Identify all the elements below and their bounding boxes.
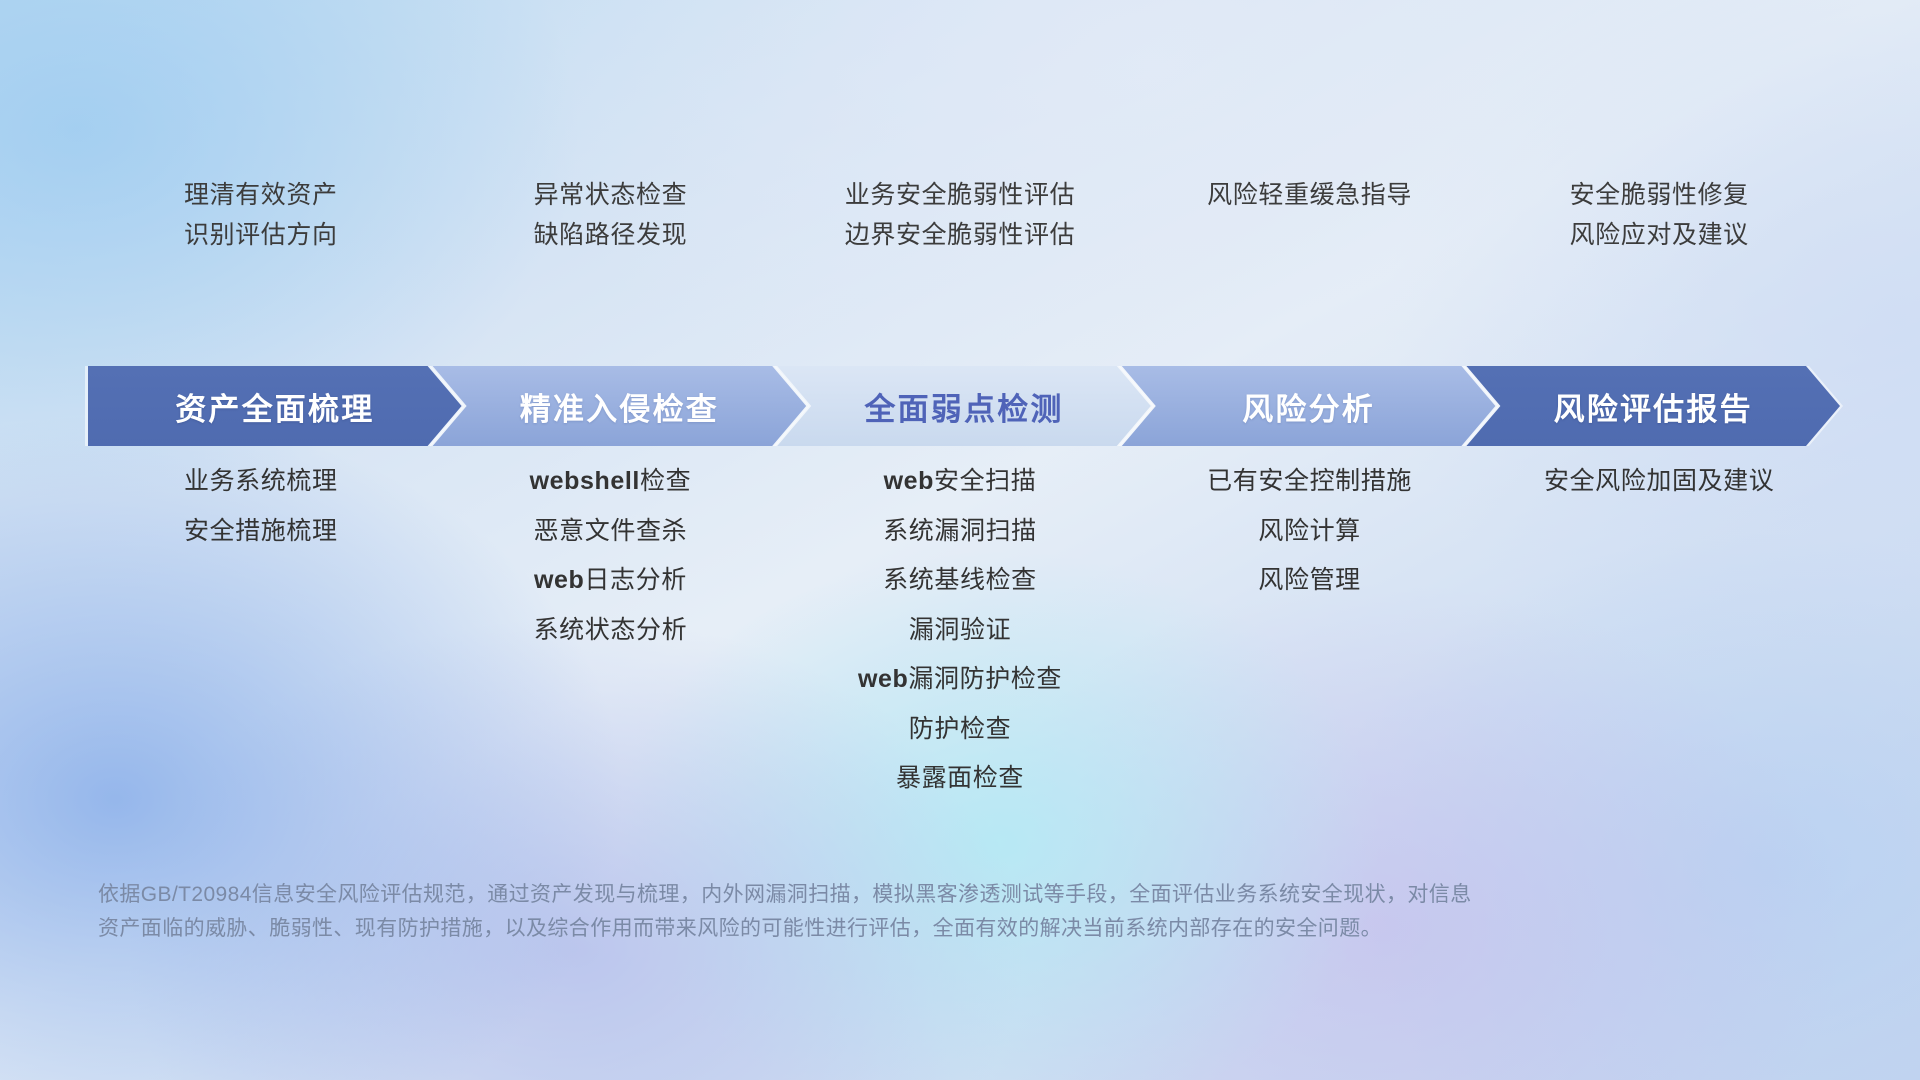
chevron-asset-inventory[interactable] [88, 366, 462, 446]
top-note: 理清有效资产 [184, 182, 338, 210]
bottom-item: web日志分析 [534, 567, 687, 595]
bottom-item: 已有安全控制措施 [1207, 468, 1412, 496]
chevron-intrusion-check[interactable] [433, 366, 807, 446]
bottom-item: 风险计算 [1258, 518, 1360, 546]
bottom-item: 安全措施梳理 [184, 518, 338, 546]
top-notes-row: 理清有效资产识别评估方向异常状态检查缺陷路径发现业务安全脆弱性评估边界安全脆弱性… [86, 178, 1834, 286]
slide-canvas: 理清有效资产识别评估方向异常状态检查缺陷路径发现业务安全脆弱性评估边界安全脆弱性… [0, 0, 1920, 1080]
top-note: 缺陷路径发现 [534, 222, 688, 250]
top-notes-col-asset-inventory: 理清有效资产识别评估方向 [86, 178, 436, 286]
bottom-item: web漏洞防护检查 [858, 666, 1062, 694]
footnote-line-2: 资产面临的威胁、脆弱性、现有防护措施，以及综合作用而带来风险的可能性进行评估，全… [98, 912, 1638, 946]
bottom-item: 系统基线检查 [883, 567, 1037, 595]
bottom-item-cn: 安全扫描 [934, 467, 1036, 495]
bottom-item: 恶意文件查杀 [534, 518, 688, 546]
bottom-item: 安全风险加固及建议 [1544, 468, 1774, 496]
bottom-item: 暴露面检查 [896, 765, 1024, 793]
bottom-item-cn: 漏洞防护检查 [908, 665, 1062, 693]
bottom-item: 系统漏洞扫描 [883, 518, 1037, 546]
bottom-item: 防护检查 [909, 716, 1011, 744]
footnote-line-1: 依据GB/T20984信息安全风险评估规范，通过资产发现与梳理，内外网漏洞扫描，… [98, 878, 1638, 912]
bottom-item-cn: 检查 [640, 467, 691, 495]
bottom-item: webshell检查 [530, 468, 692, 496]
top-note: 风险应对及建议 [1570, 222, 1749, 250]
bottom-item-latin: web [858, 665, 908, 693]
top-notes-col-risk-analysis: 风险轻重缓急指导 [1135, 178, 1485, 286]
top-notes-col-weakness-detection: 业务安全脆弱性评估边界安全脆弱性评估 [785, 178, 1135, 286]
footnote-block: 依据GB/T20984信息安全风险评估规范，通过资产发现与梳理，内外网漏洞扫描，… [98, 878, 1638, 946]
process-chevron-banner: 资产全面梳理精准入侵检查全面弱点检测风险分析风险评估报告 [88, 366, 1840, 446]
bottom-items-row: 业务系统梳理安全措施梳理webshell检查恶意文件查杀web日志分析系统状态分… [86, 468, 1834, 793]
chevron-risk-report[interactable] [1466, 366, 1840, 446]
chevron-weakness-detection[interactable] [777, 366, 1151, 446]
bottom-items-col-risk-report: 安全风险加固及建议 [1484, 468, 1834, 496]
top-notes-col-risk-report: 安全脆弱性修复风险应对及建议 [1484, 178, 1834, 286]
top-notes-col-intrusion-check: 异常状态检查缺陷路径发现 [436, 178, 786, 286]
bottom-item-latin: webshell [530, 467, 640, 495]
bottom-item-latin: web [534, 566, 584, 594]
top-note: 业务安全脆弱性评估 [845, 182, 1075, 210]
bottom-item-latin: web [884, 467, 934, 495]
bottom-items-col-asset-inventory: 业务系统梳理安全措施梳理 [86, 468, 436, 545]
bottom-items-col-risk-analysis: 已有安全控制措施风险计算风险管理 [1135, 468, 1485, 595]
bottom-item: 业务系统梳理 [184, 468, 338, 496]
top-note: 安全脆弱性修复 [1570, 182, 1749, 210]
bottom-item: 风险管理 [1258, 567, 1360, 595]
top-note: 异常状态检查 [534, 182, 688, 210]
bottom-item: 系统状态分析 [534, 617, 688, 645]
chevron-shapes [88, 366, 1840, 446]
bottom-item-cn: 日志分析 [584, 566, 686, 594]
chevron-risk-analysis[interactable] [1122, 366, 1496, 446]
bottom-item: web安全扫描 [884, 468, 1037, 496]
bottom-item: 漏洞验证 [909, 617, 1011, 645]
bottom-items-col-intrusion-check: webshell检查恶意文件查杀web日志分析系统状态分析 [436, 468, 786, 644]
top-note: 风险轻重缓急指导 [1207, 182, 1412, 210]
top-note: 识别评估方向 [184, 222, 338, 250]
bottom-items-col-weakness-detection: web安全扫描系统漏洞扫描系统基线检查漏洞验证web漏洞防护检查防护检查暴露面检… [785, 468, 1135, 793]
top-note: 边界安全脆弱性评估 [845, 222, 1075, 250]
